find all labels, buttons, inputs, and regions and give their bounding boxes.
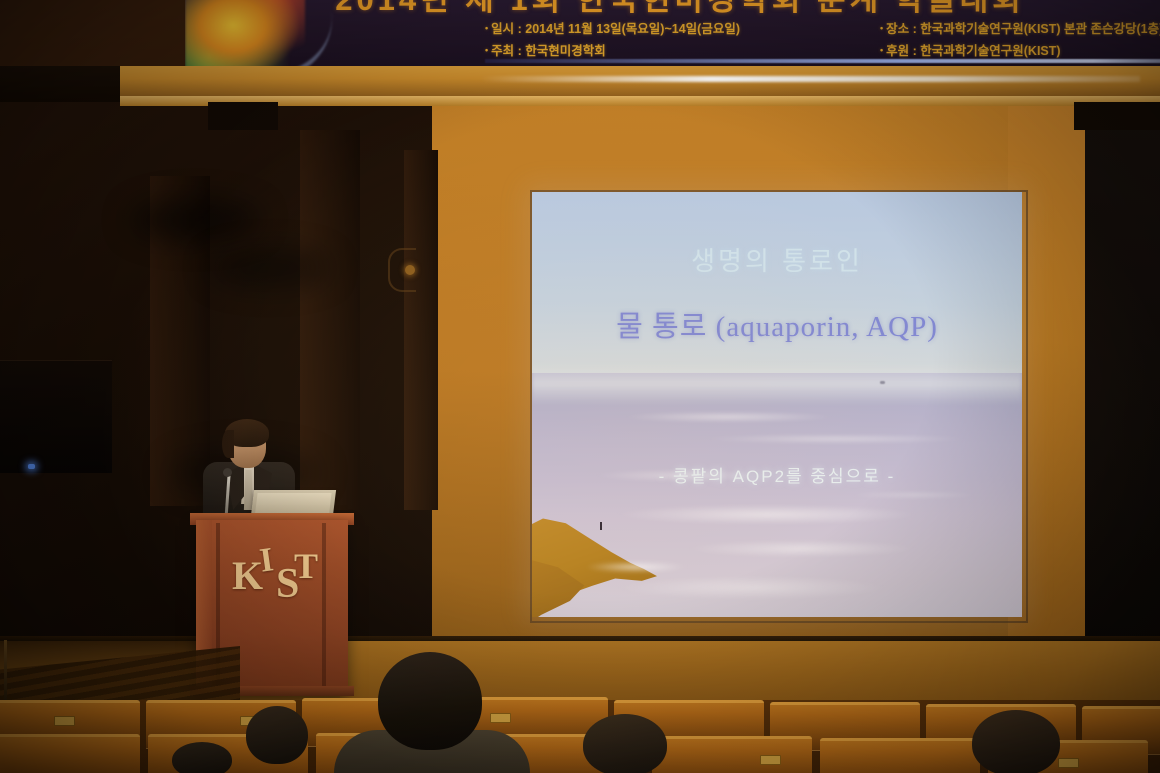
kist-logo-k: K xyxy=(232,552,262,599)
seat-number-plate xyxy=(1058,758,1079,768)
audience-member-head xyxy=(172,742,232,773)
bullet-icon: • xyxy=(485,45,488,55)
slide-distant-boat xyxy=(880,381,885,384)
wall-shadow xyxy=(130,200,260,240)
slide-subtitle: - 콩팥의 AQP2를 중심으로 - xyxy=(532,462,1022,487)
audience-member-head xyxy=(246,706,308,764)
banner-left-info: •일시 : 2014년 11월 13일(목요일)~14일(금요일) •주최 : … xyxy=(485,18,740,62)
audience-member-head xyxy=(583,714,667,773)
door-knob xyxy=(405,265,415,275)
presentation-photo: 2014년 제 1회 한국현미경학회 춘계 학술대회 •일시 : 2014년 1… xyxy=(0,0,1160,773)
seat xyxy=(652,736,812,773)
seat-number-plate xyxy=(760,755,781,765)
aisle-rail xyxy=(4,640,7,700)
blue-led-indicator xyxy=(28,464,35,469)
bullet-icon: • xyxy=(485,23,488,33)
banner-sponsor: 후원 : 한국과학기술연구원(KIST) xyxy=(886,44,1060,58)
slide-title-line-1: 생명의 통로인 xyxy=(532,241,1022,278)
seat-number-plate xyxy=(490,713,511,723)
kist-logo-t: T xyxy=(294,545,317,587)
projection-screen: 생명의 통로인 물 통로 (aquaporin, AQP) - 콩팥의 AQP2… xyxy=(532,192,1022,617)
banner-date: 일시 : 2014년 11월 13일(목요일)~14일(금요일) xyxy=(491,22,740,36)
kist-logo: K I S T xyxy=(232,546,322,606)
audience-member-head xyxy=(378,652,482,750)
seat xyxy=(0,734,140,773)
seat xyxy=(820,738,980,773)
valance-light-strip xyxy=(480,76,1140,82)
audience-member-head xyxy=(972,710,1060,773)
event-banner: 2014년 제 1회 한국현미경학회 춘계 학술대회 •일시 : 2014년 1… xyxy=(185,0,1160,68)
banner-location: 장소 : 한국과학기술연구원(KIST) 본관 존슨강당(1층) / 국제회의실 xyxy=(886,22,1160,36)
seat-number-plate xyxy=(54,716,75,726)
banner-right-info: •장소 : 한국과학기술연구원(KIST) 본관 존슨강당(1층) / 국제회의… xyxy=(880,18,1160,62)
slide-title-line-2: 물 통로 (aquaporin, AQP) xyxy=(532,303,1022,345)
stage-door xyxy=(404,150,438,510)
wall-dark-right xyxy=(1085,96,1160,656)
microphone-icon xyxy=(223,468,232,477)
banner-underline xyxy=(485,59,1160,63)
bullet-icon: • xyxy=(880,45,883,55)
valance-shadow-left xyxy=(0,66,120,102)
valance-notch xyxy=(1074,102,1160,130)
banner-title: 2014년 제 1회 한국현미경학회 춘계 학술대회 xyxy=(300,0,1060,19)
stage-monitor xyxy=(0,360,112,473)
speaker-hair-side xyxy=(222,430,234,458)
wall-pillar-mid xyxy=(300,130,360,510)
banner-host: 주최 : 한국현미경학회 xyxy=(491,44,606,58)
slide-sky xyxy=(532,192,1022,375)
podium-groove xyxy=(322,523,326,693)
valance-notch xyxy=(208,102,278,130)
slide-figure-on-rock xyxy=(600,522,602,530)
wall-shadow xyxy=(210,250,330,286)
bullet-icon: • xyxy=(880,23,883,33)
slide-surf-foam xyxy=(571,558,701,576)
